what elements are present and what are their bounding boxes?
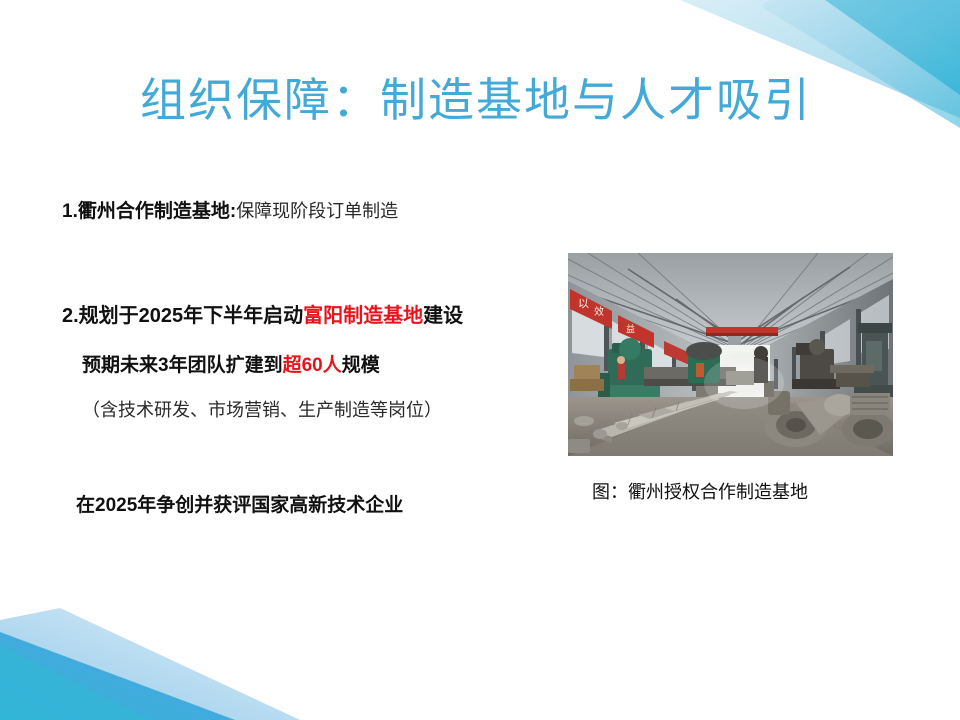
- slide-canvas: 组织保障：制造基地与人才吸引 1.衢州合作制造基地:保障现阶段订单制造 2.规划…: [0, 0, 960, 720]
- bullet-3-prefix: 预期未来3年团队扩建到: [82, 355, 283, 376]
- bullet-line-4: （含技术研发、市场营销、生产制造等岗位）: [82, 396, 442, 422]
- bullet-line-1: 1.衢州合作制造基地:保障现阶段订单制造: [62, 196, 398, 223]
- svg-text:益: 益: [626, 323, 635, 335]
- page-title: 组织保障：制造基地与人才吸引: [140, 64, 812, 130]
- figure-caption: 图：衢州授权合作制造基地: [592, 478, 808, 504]
- bullet-2-highlight: 富阳制造基地: [303, 305, 423, 327]
- bullet-2-prefix: 2.规划于2025年下半年启动: [62, 305, 303, 327]
- bullet-3-suffix: 规模: [342, 355, 380, 376]
- bullet-line-3: 预期未来3年团队扩建到超60人规模: [82, 350, 380, 377]
- bullet-line-5: 在2025年争创并获评国家高新技术企业: [76, 490, 403, 517]
- svg-text:以: 以: [578, 297, 589, 310]
- factory-photo: 以 效 益: [568, 253, 893, 456]
- decoration-bottom-left: [0, 590, 340, 720]
- factory-photo-illustration: 以 效 益: [568, 253, 893, 456]
- bullet-1-label: 1.衢州合作制造基地:: [62, 201, 236, 222]
- bullet-line-2: 2.规划于2025年下半年启动富阳制造基地建设: [62, 299, 463, 328]
- bullet-2-suffix: 建设: [423, 305, 463, 327]
- bullet-3-highlight: 超60人: [283, 355, 342, 376]
- svg-text:效: 效: [594, 305, 604, 318]
- bullet-1-detail: 保障现阶段订单制造: [236, 201, 398, 221]
